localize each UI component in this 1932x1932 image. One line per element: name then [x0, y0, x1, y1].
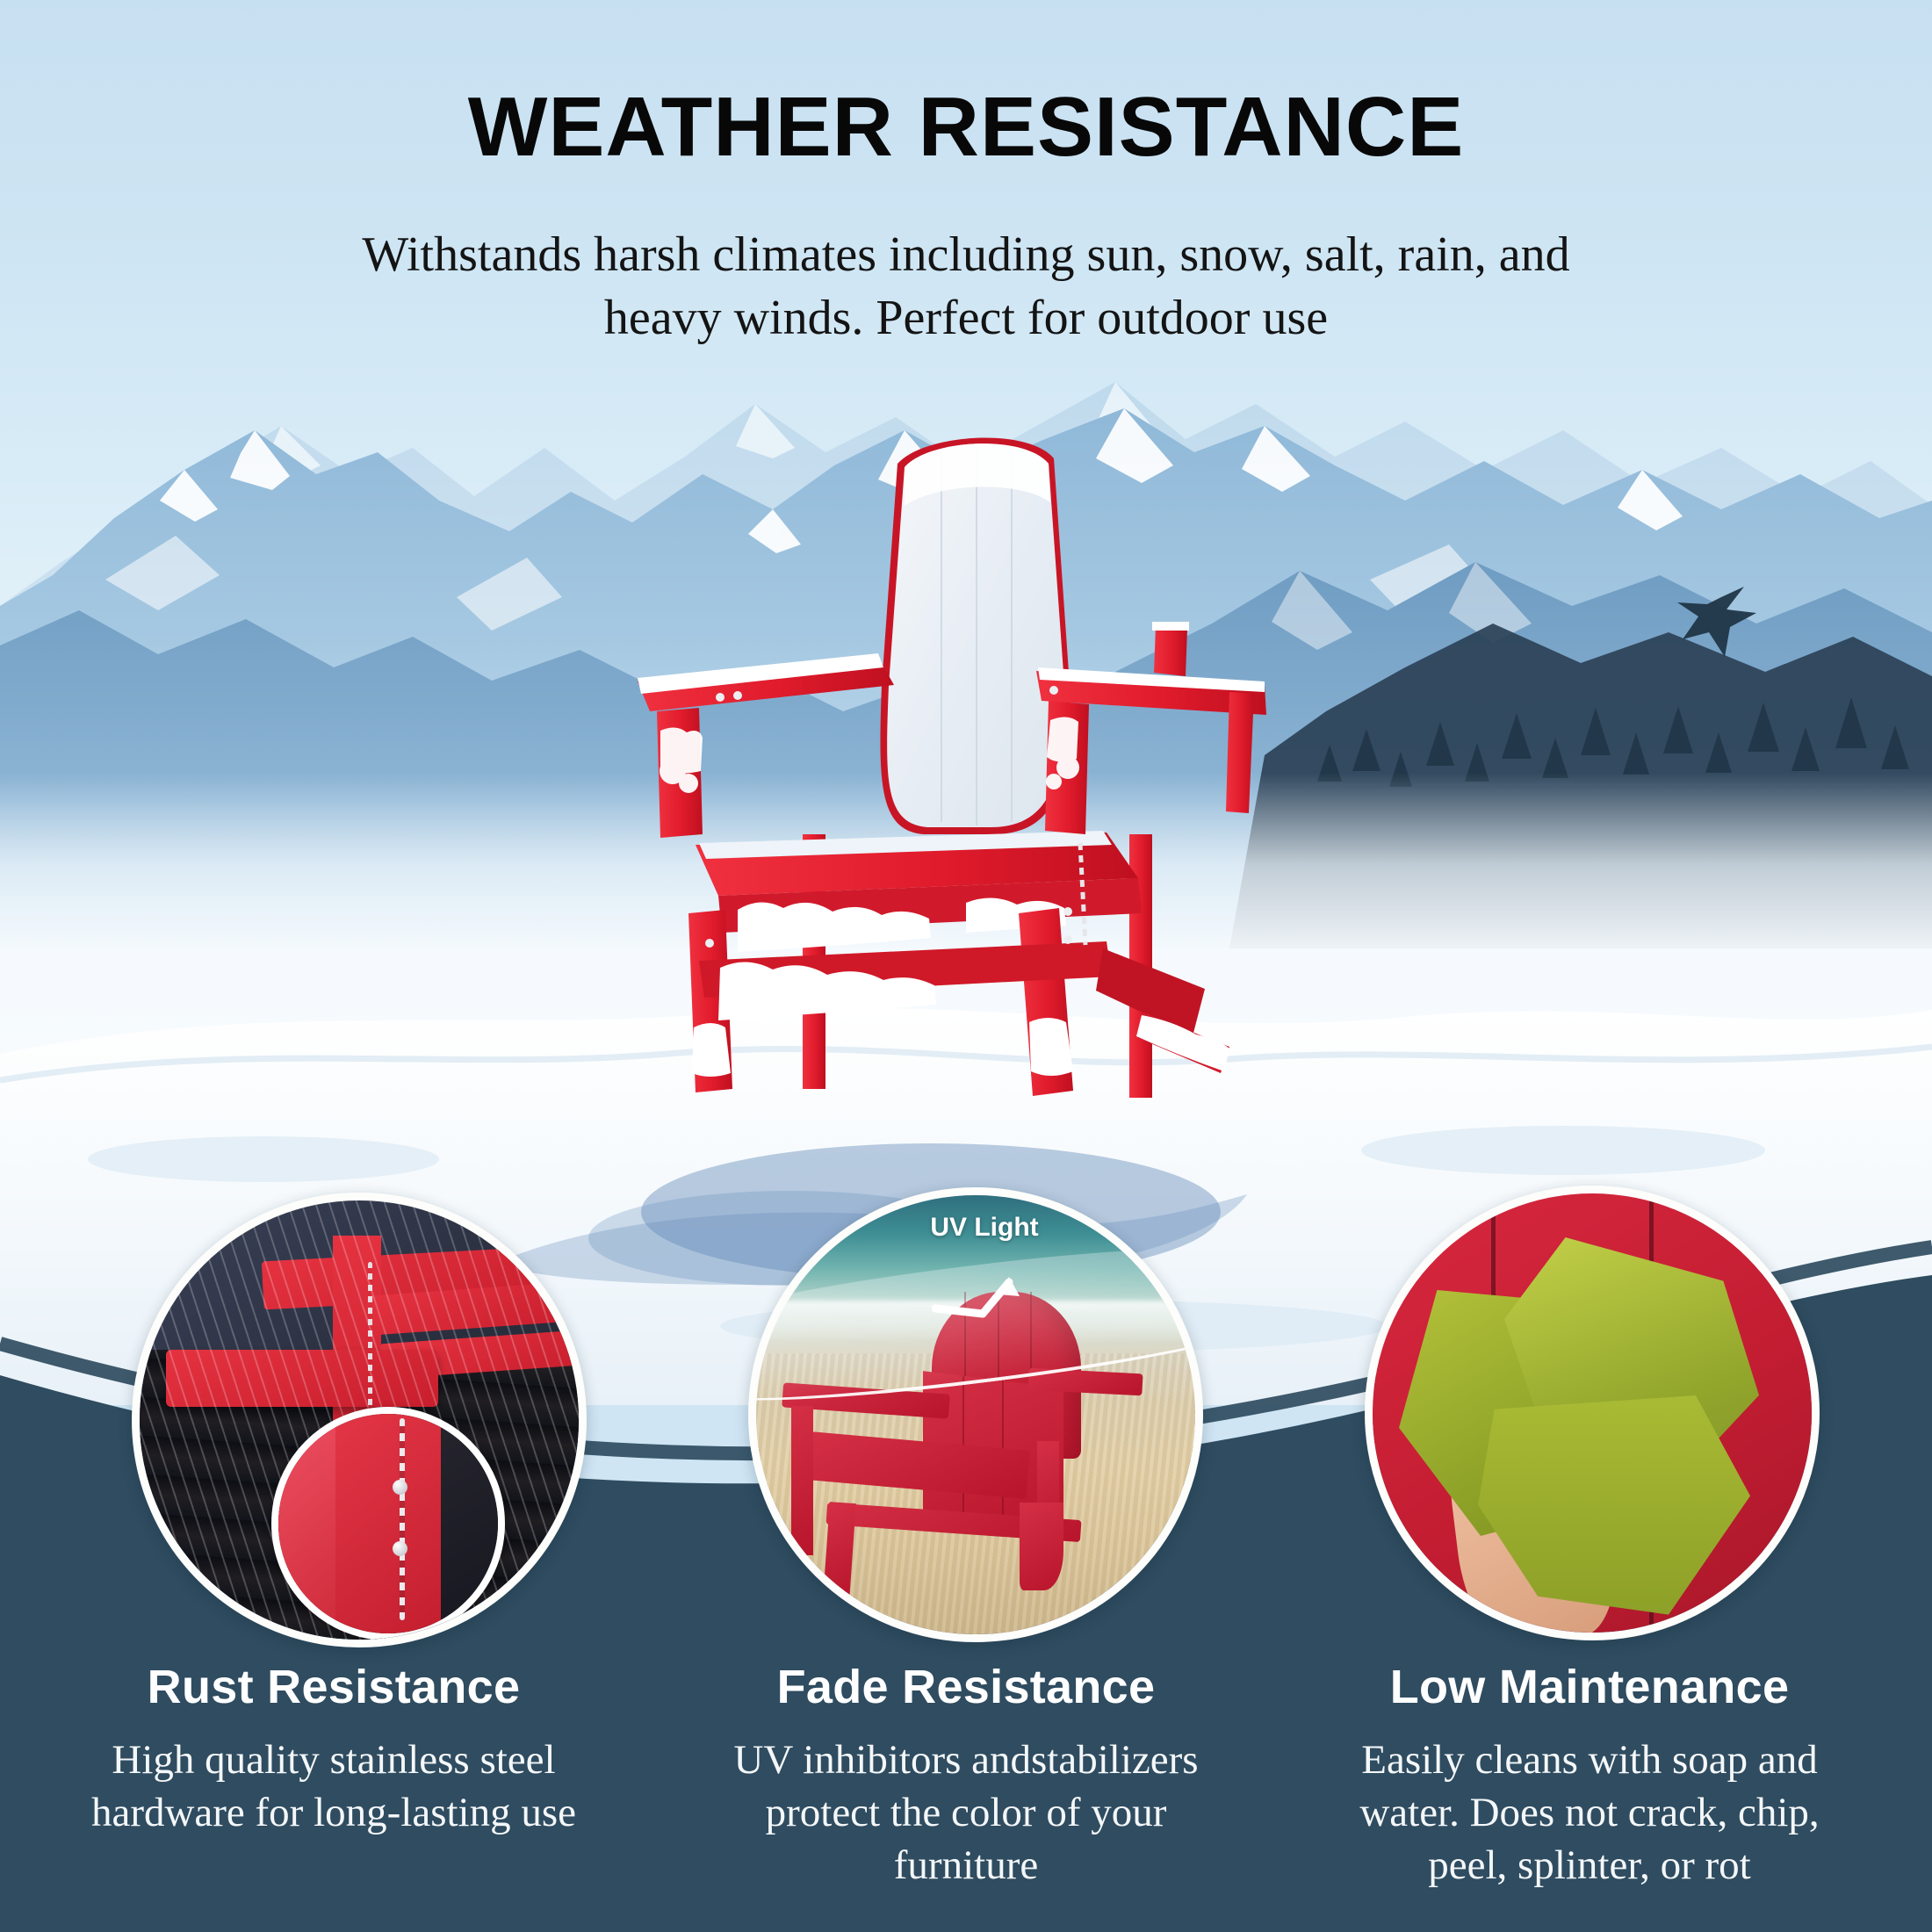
- chair-foot: [1020, 1503, 1063, 1590]
- feature-heading: Low Maintenance: [1317, 1660, 1862, 1714]
- weather-resistance-infographic: WEATHER RESISTANCE Withstands harsh clim…: [0, 0, 1932, 1932]
- stainless-chain-closeup: [400, 1418, 405, 1620]
- feature-card-rust-resistance: Rust Resistance High quality stainless s…: [61, 1660, 606, 1839]
- uv-light-arrow-icon: [932, 1270, 1037, 1331]
- feature-heading: Fade Resistance: [694, 1660, 1238, 1714]
- feature-image-fade-resistance: UV Light: [748, 1187, 1203, 1642]
- feature-body: UV inhibitors andstabilizers protect the…: [694, 1734, 1238, 1892]
- feature-card-low-maintenance: Low Maintenance Easily cleans with soap …: [1317, 1660, 1862, 1892]
- chair-leg-left: [791, 1406, 813, 1555]
- feature-image-low-maintenance: [1365, 1186, 1820, 1640]
- feature-body: Easily cleans with soap and water. Does …: [1317, 1734, 1862, 1892]
- hero-product-chair: [615, 422, 1317, 1124]
- page-subtitle: Withstands harsh climates including sun,…: [307, 224, 1625, 350]
- page-title: WEATHER RESISTANCE: [0, 83, 1932, 172]
- feature-heading: Rust Resistance: [61, 1660, 606, 1714]
- feature-image-rust-resistance: [132, 1193, 587, 1647]
- feature-body: High quality stainless steel hardware fo…: [61, 1734, 606, 1839]
- magnified-inset: [271, 1407, 505, 1640]
- uv-light-label: UV Light: [930, 1213, 1038, 1243]
- feature-card-fade-resistance: Fade Resistance UV inhibitors andstabili…: [694, 1660, 1238, 1892]
